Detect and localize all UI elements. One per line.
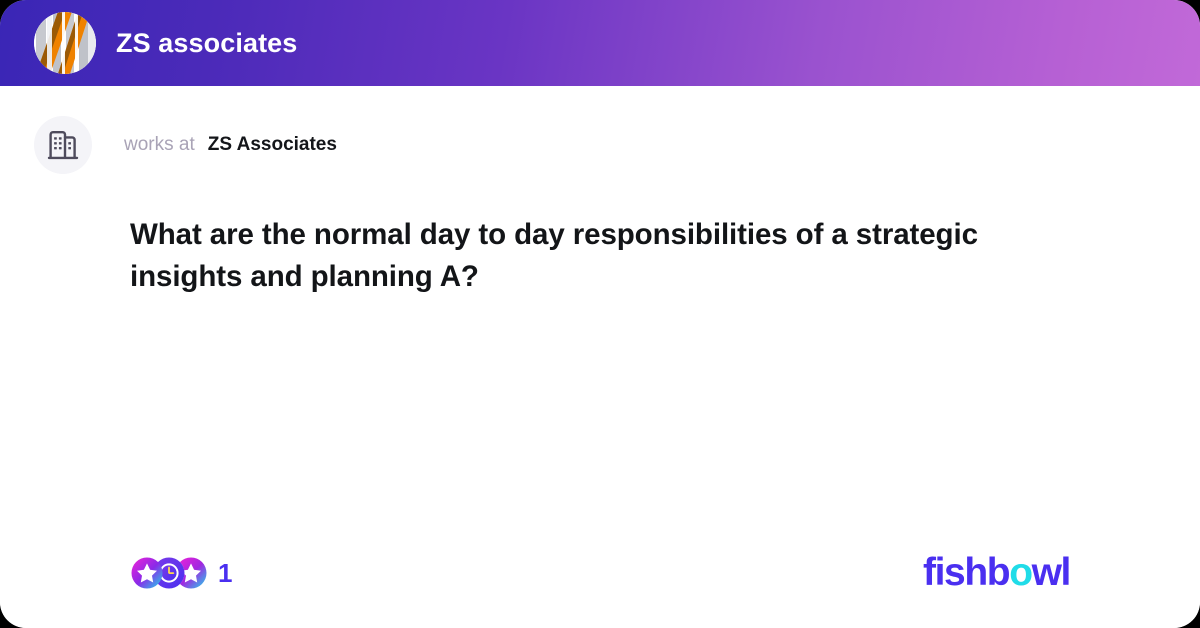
fishbowl-logo-part3: wl bbox=[1032, 551, 1070, 595]
avatar bbox=[34, 116, 92, 174]
card-header: ZS associates bbox=[0, 0, 1200, 86]
card-body: works at ZS Associates What are the norm… bbox=[0, 86, 1200, 628]
reaction-badge-stack[interactable] bbox=[130, 556, 206, 590]
reaction-count: 1 bbox=[218, 558, 232, 589]
author-meta: works at ZS Associates bbox=[124, 134, 337, 156]
works-at-label: works at bbox=[124, 134, 195, 156]
card-footer: 1 fishb o wl bbox=[34, 532, 1166, 628]
star-reaction-icon[interactable] bbox=[130, 556, 164, 590]
zs-striped-circle-logo bbox=[34, 12, 96, 74]
fishbowl-logo-highlight-letter: o bbox=[1009, 551, 1031, 595]
post-question: What are the normal day to day responsib… bbox=[130, 214, 1066, 298]
post-card: ZS associates bbox=[0, 0, 1200, 628]
company-name: ZS Associates bbox=[208, 134, 337, 156]
fishbowl-logo-part1: fishb bbox=[923, 551, 1009, 595]
office-building-icon bbox=[46, 128, 80, 162]
author-row: works at ZS Associates bbox=[34, 114, 1166, 176]
reactions-group[interactable]: 1 bbox=[130, 556, 232, 590]
brand-title: ZS associates bbox=[116, 28, 297, 59]
fishbowl-logo: fishb o wl bbox=[923, 551, 1070, 595]
